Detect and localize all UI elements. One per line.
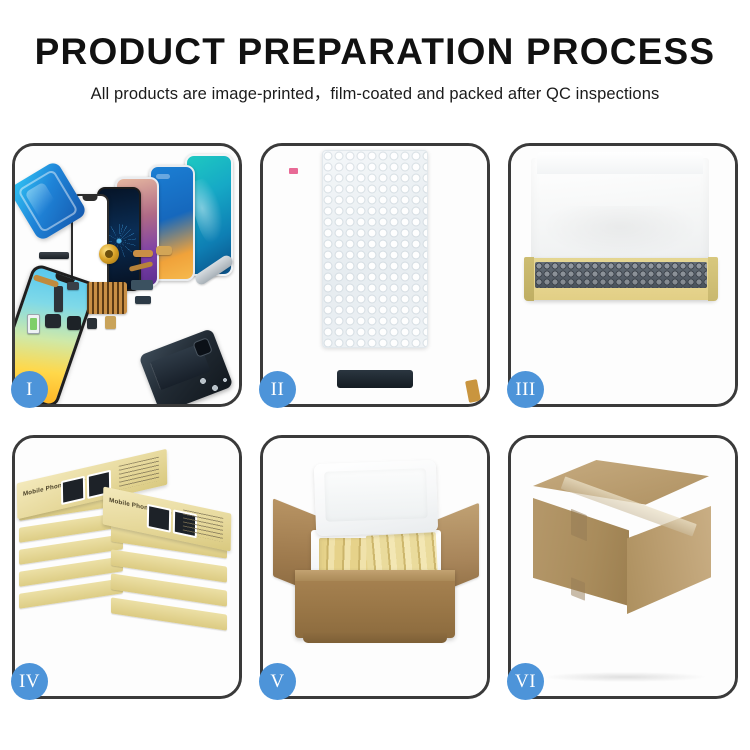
- bubble-wrap-bag-icon: [322, 150, 428, 348]
- speaker-part-icon: [99, 244, 119, 264]
- pink-label-icon: [289, 168, 298, 174]
- product-preparation-process-page: PRODUCT PREPARATION PROCESS All products…: [0, 0, 750, 750]
- process-step-panel-2: II: [260, 143, 490, 407]
- process-step-panel-5: V: [260, 435, 490, 699]
- bubble-wrap-inside-box-icon: [535, 262, 707, 288]
- step-badge-5: V: [259, 663, 296, 700]
- step-badge-4: IV: [11, 663, 48, 700]
- process-step-panel-3: III: [508, 143, 738, 407]
- step-badge-3: III: [507, 371, 544, 408]
- shipping-carton-open-icon: [295, 570, 455, 638]
- step-4-image: Mobile Phone Spare Parts Mobile Phone Sp…: [15, 438, 239, 696]
- button-part-icon: [87, 318, 97, 329]
- sensor-part-icon: [131, 280, 153, 290]
- vibrator-part-icon: [67, 316, 81, 330]
- box-spec-lines-icon: [183, 509, 223, 541]
- step-badge-6: VI: [507, 663, 544, 700]
- camera-part-icon: [45, 314, 61, 328]
- screen-connector-bar-icon: [337, 370, 413, 388]
- page-header: PRODUCT PREPARATION PROCESS All products…: [0, 0, 750, 105]
- process-step-panel-4: Mobile Phone Spare Parts Mobile Phone Sp…: [12, 435, 242, 699]
- box-window-screen-icon: [61, 476, 85, 505]
- process-steps-grid: I II III: [12, 143, 738, 699]
- foam-box-lid-icon: [314, 460, 438, 536]
- box-window-screen-icon: [147, 504, 171, 533]
- flex-cable-part-icon: [54, 286, 63, 312]
- step-badge-2: II: [259, 371, 296, 408]
- step-3-image: [511, 146, 735, 404]
- step-6-image: [511, 438, 735, 696]
- foam-insert-icon: [531, 158, 709, 270]
- screws-icon: [197, 376, 231, 394]
- carton-shadow: [545, 672, 705, 682]
- process-step-panel-1: I: [12, 143, 242, 407]
- step-2-image: [263, 146, 487, 404]
- chip-grid-part-icon: [87, 282, 127, 314]
- page-title: PRODUCT PREPARATION PROCESS: [0, 30, 750, 74]
- step-5-image: [263, 438, 487, 696]
- process-step-panel-6: VI: [508, 435, 738, 699]
- step-1-image: [15, 146, 239, 404]
- battery-part-icon: [27, 314, 40, 334]
- flex-gold-part-icon: [133, 250, 153, 257]
- small-module-part-icon: [67, 282, 79, 290]
- connector-gold-part-icon: [156, 246, 172, 255]
- shield-part-icon: [135, 296, 151, 304]
- gold-contact-part-icon: [105, 316, 116, 329]
- connector-right-icon: [465, 379, 481, 403]
- page-subtitle: All products are image-printed，film-coat…: [0, 83, 750, 105]
- step-badge-1: I: [11, 371, 48, 408]
- box-spec-lines-icon: [119, 457, 159, 490]
- earpiece-part-icon: [39, 252, 69, 259]
